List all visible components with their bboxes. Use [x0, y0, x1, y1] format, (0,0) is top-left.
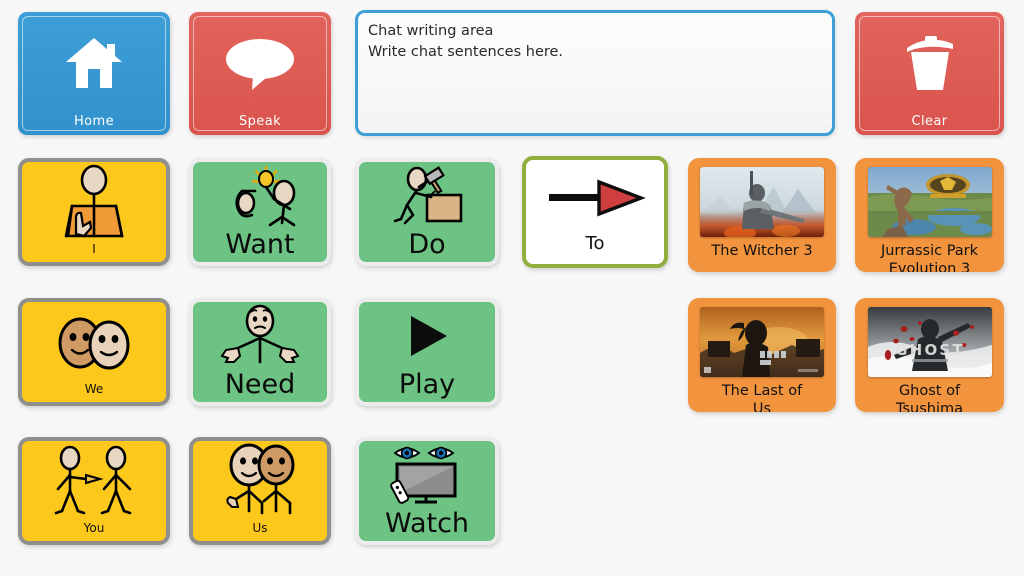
ghost-label-line-2: Tsushima: [896, 401, 963, 412]
card-label-jurrassic-park-evolution-3: Jurrassic Park Evolution 3: [863, 237, 996, 272]
witcher-3-thumbnail: [700, 167, 824, 237]
card-you[interactable]: You: [18, 437, 170, 545]
card-watch[interactable]: Watch: [355, 437, 499, 545]
speak-button[interactable]: Speak: [189, 12, 331, 135]
person-pointing-self-icon: [22, 162, 166, 243]
chat-writing-area[interactable]: Chat writing area Write chat sentences h…: [355, 10, 835, 136]
card-label-to: To: [526, 235, 664, 264]
ghost-of-tsushima-thumbnail: GHOST: [868, 307, 992, 377]
card-label-the-last-of-us: The Last of Us: [696, 377, 828, 412]
clear-button[interactable]: Clear: [855, 12, 1004, 135]
person-open-hands-icon: [193, 302, 327, 371]
person-pointing-other-icon: [22, 441, 166, 522]
card-label-i: I: [22, 243, 166, 262]
two-faces-icon: [22, 302, 166, 383]
jurassic-park-thumbnail: [868, 167, 992, 237]
home-button-label: Home: [74, 114, 114, 129]
jurassic-label-line-2: Evolution 3: [889, 261, 970, 272]
card-label-us: Us: [193, 522, 327, 541]
lastofus-label-line-1: The Last of: [722, 383, 802, 399]
chat-line-2: Write chat sentences here.: [368, 42, 822, 63]
card-ghost-of-tsushima[interactable]: GHOST Ghost of Tsushima: [855, 298, 1004, 412]
card-do[interactable]: Do: [355, 158, 499, 266]
person-reaching-balloon-icon: [193, 162, 327, 231]
card-label-need: Need: [193, 371, 327, 402]
card-label-want: Want: [193, 231, 327, 262]
jurassic-label-line-1: Jurrassic Park: [881, 243, 978, 259]
clear-button-label: Clear: [912, 114, 948, 129]
red-arrow-right-icon: [526, 160, 664, 235]
eyes-tv-remote-icon: [359, 441, 495, 510]
home-button[interactable]: Home: [18, 12, 170, 135]
card-need[interactable]: Need: [189, 298, 331, 406]
ghost-art-text: GHOST: [895, 341, 965, 359]
card-label-do: Do: [359, 231, 495, 262]
house-icon: [18, 12, 170, 114]
card-i[interactable]: I: [18, 158, 170, 266]
card-us[interactable]: Us: [189, 437, 331, 545]
lastofus-label-line-2: Us: [753, 401, 771, 412]
card-the-last-of-us[interactable]: The Last of Us: [688, 298, 836, 412]
card-jurrassic-park-evolution-3[interactable]: Jurrassic Park Evolution 3: [855, 158, 1004, 272]
speak-button-label: Speak: [239, 114, 281, 129]
card-label-you: You: [22, 522, 166, 541]
card-to[interactable]: To: [522, 156, 668, 268]
play-triangle-icon: [359, 302, 495, 371]
card-label-play: Play: [359, 371, 495, 402]
two-people-pointing-icon: [193, 441, 327, 522]
card-label-watch: Watch: [359, 510, 495, 541]
last-of-us-thumbnail: [700, 307, 824, 377]
card-label-the-witcher-3: The Witcher 3: [696, 237, 828, 261]
toolbar: Home Speak Clear Chat writing area Write…: [0, 0, 1024, 146]
card-we[interactable]: We: [18, 298, 170, 406]
person-hammering-box-icon: [359, 162, 495, 231]
ghost-label-line-1: Ghost of: [899, 383, 960, 399]
card-the-witcher-3[interactable]: The Witcher 3: [688, 158, 836, 272]
card-label-we: We: [22, 383, 166, 402]
card-label-ghost-of-tsushima: Ghost of Tsushima: [863, 377, 996, 412]
card-want[interactable]: Want: [189, 158, 331, 266]
speech-bubble-icon: [189, 12, 331, 114]
trash-can-icon: [855, 12, 1004, 114]
chat-line-1: Chat writing area: [368, 21, 822, 42]
card-grid: I: [0, 146, 1024, 576]
card-play[interactable]: Play: [355, 298, 499, 406]
